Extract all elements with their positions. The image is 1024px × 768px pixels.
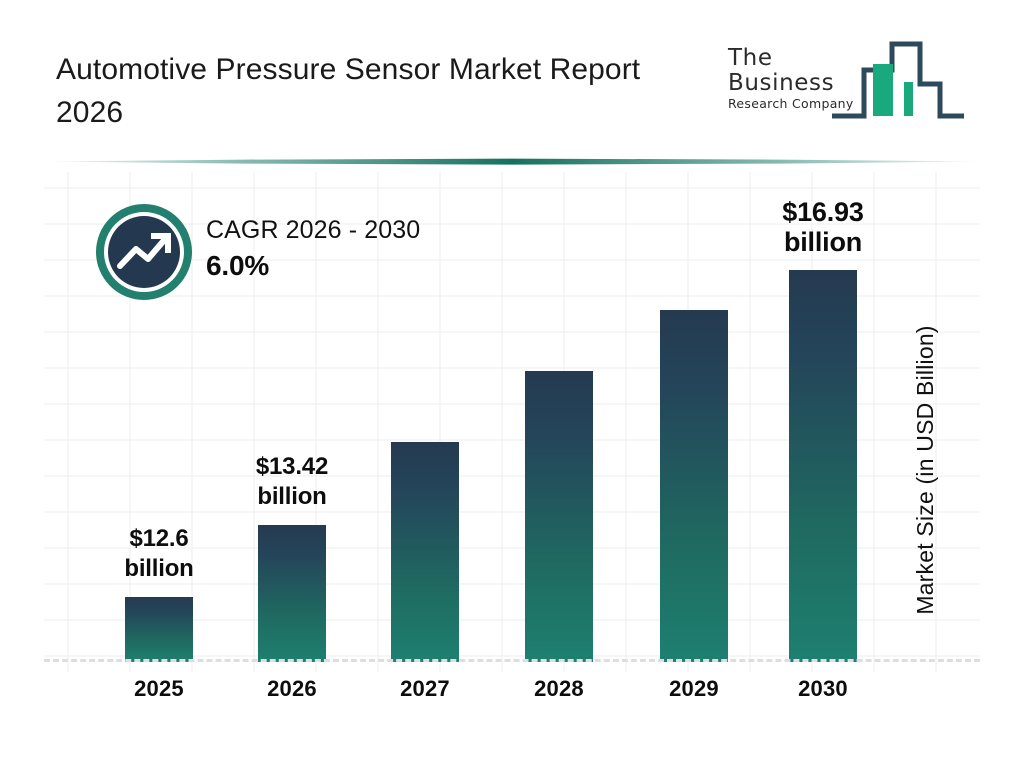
- y-axis-title: Market Size (in USD Billion): [890, 0, 917, 280]
- cagr-badge: CAGR 2026 - 2030 6.0%: [96, 204, 496, 308]
- bar-value-amount-2030: $16.93: [755, 197, 891, 227]
- bar-value-amount-2025: $12.6: [91, 524, 227, 554]
- x-tick-2030: 2030: [755, 676, 891, 702]
- x-axis: 2025 2026 2027 2028 2029 2030: [44, 676, 980, 716]
- bar-2027[interactable]: [391, 442, 459, 662]
- bar-2028[interactable]: [525, 371, 593, 662]
- x-tick-2026: 2026: [224, 676, 360, 702]
- cagr-text-block: CAGR 2026 - 2030 6.0%: [206, 214, 496, 285]
- bar-value-amount-2026: $13.42: [224, 452, 360, 482]
- cagr-value-label: 6.0%: [206, 247, 496, 285]
- bar-value-label-2025: $12.6 billion: [91, 524, 227, 584]
- header-divider: [44, 158, 980, 165]
- bar-value-label-2030: $16.93 billion: [755, 197, 891, 257]
- y-axis-title-text: Market Size (in USD Billion): [912, 280, 939, 660]
- x-tick-2025: 2025: [91, 676, 227, 702]
- bar-2030[interactable]: [789, 270, 857, 662]
- trending-up-icon: [96, 204, 192, 300]
- bar-value-label-2026: $13.42 billion: [224, 452, 360, 512]
- bar-2029[interactable]: [660, 310, 728, 662]
- bar-value-unit-2030: billion: [755, 227, 891, 257]
- chart-baseline: [44, 659, 980, 662]
- x-tick-2029: 2029: [626, 676, 762, 702]
- bar-value-unit-2025: billion: [91, 554, 227, 584]
- page-title: Automotive Pressure Sensor Market Report…: [56, 48, 696, 134]
- bar-2026[interactable]: [258, 525, 326, 662]
- bar-2025[interactable]: [125, 597, 193, 662]
- company-logo: The Business Research Company: [728, 34, 968, 128]
- cagr-period-label: CAGR 2026 - 2030: [206, 214, 496, 247]
- bar-value-unit-2026: billion: [224, 482, 360, 512]
- x-tick-2028: 2028: [491, 676, 627, 702]
- x-tick-2027: 2027: [357, 676, 493, 702]
- header: Automotive Pressure Sensor Market Report…: [0, 0, 1024, 152]
